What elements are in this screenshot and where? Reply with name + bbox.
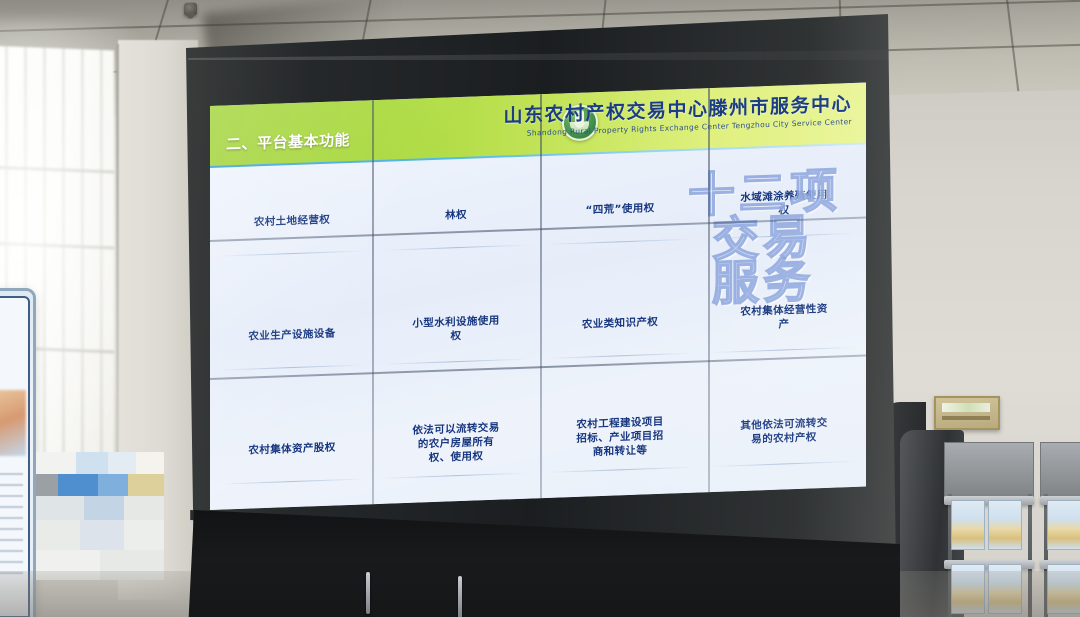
- watermark-line-3: 服务: [688, 259, 838, 309]
- leaflet[interactable]: [1047, 500, 1080, 550]
- kiosk-text-lines: [0, 473, 23, 583]
- section-title: 平台基本功能: [257, 131, 350, 152]
- table-cell[interactable]: 农村集体资产股权: [210, 390, 374, 510]
- table-cell[interactable]: 农村土地经营权: [210, 162, 374, 282]
- cell-label: 小型水利设施使用权: [408, 315, 504, 346]
- video-wall[interactable]: 二、平台基本功能 山东农村产权交易中心滕州市服务中心 Shandong Rura…: [182, 14, 896, 617]
- leaflet[interactable]: [951, 500, 985, 550]
- watermark-text: 十二项 交易 服务: [688, 170, 838, 309]
- kiosk-panel: [0, 296, 30, 617]
- table-cell[interactable]: 农业类知识产权: [538, 264, 702, 384]
- table-cell[interactable]: 其他依法可流转交易的农村产权: [702, 373, 866, 493]
- censored-mosaic-region: [36, 452, 164, 580]
- standing-poster-kiosk[interactable]: [0, 288, 36, 617]
- rack-header-panel: [944, 442, 1034, 500]
- cell-label: 农业类知识产权: [582, 316, 658, 333]
- wall-plaque: [934, 396, 1000, 430]
- cell-label: “四荒”使用权: [585, 202, 654, 218]
- table-cell[interactable]: 林权: [374, 156, 538, 276]
- cell-label: 农村工程建设项目招标、产业项目招商和转让等: [572, 416, 668, 461]
- cell-label: 农村集体资产股权: [248, 442, 335, 459]
- table-cell[interactable]: 农业生产设施设备: [210, 276, 374, 396]
- services-table: 农村土地经营权 林权 “四荒”使用权 水域滩涂养殖使用权 农业生产设施设备 小型…: [210, 145, 866, 510]
- cabinet-handle[interactable]: [458, 576, 462, 617]
- cell-label: 农村土地经营权: [254, 214, 330, 231]
- table-cell[interactable]: “四荒”使用权: [538, 150, 702, 270]
- cell-label: 其他依法可流转交易的农村产权: [736, 417, 832, 448]
- org-branding: 山东农村产权交易中心滕州市服务中心 Shandong Rural Propert…: [503, 89, 852, 138]
- table-cell[interactable]: 依法可以流转交易的农户房屋所有权、使用权: [374, 384, 538, 504]
- cabinet-handle[interactable]: [366, 572, 370, 614]
- cell-label: 依法可以流转交易的农户房屋所有权、使用权: [408, 422, 504, 467]
- cell-label: 林权: [445, 209, 467, 224]
- section-number: 二、: [226, 134, 257, 153]
- kiosk-artwork: [0, 390, 26, 456]
- table-cell[interactable]: 小型水利设施使用权: [374, 270, 538, 390]
- table-cell[interactable]: 农村工程建设项目招标、产业项目招商和转让等: [538, 378, 702, 498]
- page-title: 二、平台基本功能: [226, 129, 350, 154]
- leaflet[interactable]: [988, 500, 1022, 550]
- rack-header-panel: [1040, 442, 1080, 500]
- cell-label: 农业生产设施设备: [248, 328, 335, 345]
- photo-scene: 二、平台基本功能 山东农村产权交易中心滕州市服务中心 Shandong Rura…: [0, 0, 1080, 617]
- video-wall-screen[interactable]: 二、平台基本功能 山东农村产权交易中心滕州市服务中心 Shandong Rura…: [210, 83, 866, 510]
